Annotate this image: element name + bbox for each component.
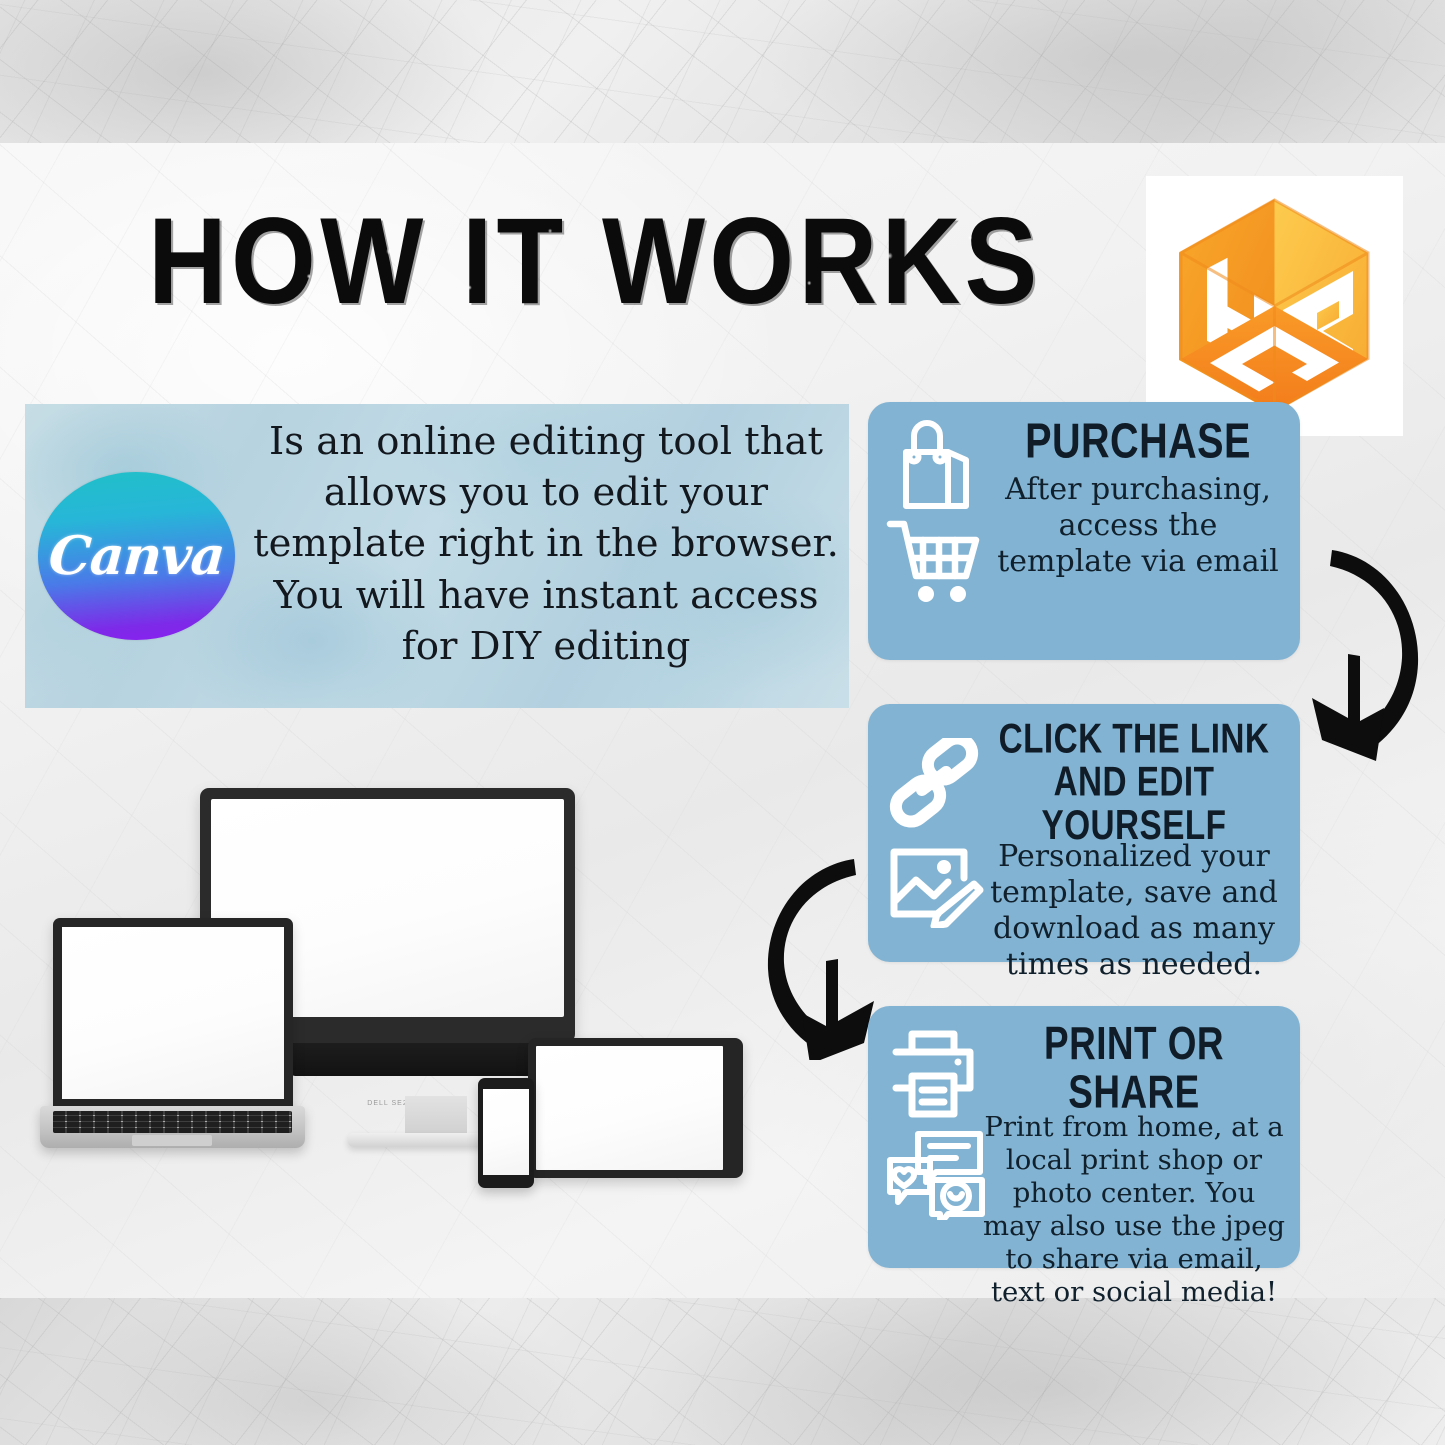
purchase-body: PURCHASE After purchasing, access the te… xyxy=(988,416,1288,580)
page-title: HOW IT WORKS xyxy=(148,206,1042,319)
tablet xyxy=(528,1038,743,1178)
step-card-print[interactable]: PRINT OR SHARE Print from home, at a loc… xyxy=(868,1006,1300,1268)
image-edit-icon xyxy=(886,840,984,928)
canva-logo: Canva xyxy=(38,472,235,640)
device-mockup-group: DELL SE2 xyxy=(30,770,770,1190)
edit-icons xyxy=(886,738,991,928)
printer-icon xyxy=(886,1028,980,1120)
purchase-description: After purchasing, access the template vi… xyxy=(988,472,1288,580)
monitor-chin xyxy=(290,1043,540,1076)
laptop-keyboard xyxy=(53,1111,292,1133)
curved-arrow-down-right-icon xyxy=(748,845,888,1060)
arrow-purchase-to-edit xyxy=(1298,532,1438,767)
print-description: Print from home, at a local print shop o… xyxy=(980,1111,1288,1309)
laptop-lid xyxy=(53,918,293,1108)
laptop-trackpad xyxy=(132,1135,212,1146)
edit-body: CLICK THE LINK AND EDIT YOURSELF Persona… xyxy=(980,718,1288,983)
step-card-purchase[interactable]: PURCHASE After purchasing, access the te… xyxy=(868,402,1300,660)
smartphone-screen xyxy=(483,1089,529,1175)
hrc-cube-logo-icon xyxy=(1167,194,1382,419)
arrow-edit-to-print xyxy=(748,845,888,1060)
canva-info-panel: Canva Is an online editing tool that all… xyxy=(25,404,849,708)
print-icons xyxy=(886,1028,991,1220)
monitor-stand-neck xyxy=(405,1096,467,1138)
infographic-canvas: HOW IT WORKS xyxy=(0,0,1445,1445)
chat-bubbles-icon xyxy=(886,1130,986,1220)
shopping-bag-icon xyxy=(886,416,978,514)
canva-wordmark: Canva xyxy=(47,525,227,587)
brand-logo-box xyxy=(1146,176,1403,436)
tablet-screen xyxy=(536,1046,723,1170)
shopping-cart-icon xyxy=(886,514,984,606)
edit-description: Personalized your template, save and dow… xyxy=(980,839,1288,983)
laptop-base xyxy=(40,1106,305,1148)
print-body: PRINT OR SHARE Print from home, at a loc… xyxy=(980,1020,1288,1309)
laptop-screen xyxy=(62,927,284,1099)
step-card-edit[interactable]: CLICK THE LINK AND EDIT YOURSELF Persona… xyxy=(868,704,1300,962)
smartphone xyxy=(478,1078,534,1188)
chain-link-icon xyxy=(886,738,981,828)
canva-description: Is an online editing tool that allows yo… xyxy=(253,416,839,672)
print-title: PRINT OR SHARE xyxy=(995,1020,1272,1115)
edit-title: CLICK THE LINK AND EDIT YOURSELF xyxy=(995,718,1272,847)
laptop xyxy=(40,918,305,1140)
purchase-icons xyxy=(886,416,991,606)
purchase-title: PURCHASE xyxy=(1003,416,1273,467)
curved-arrow-down-left-icon xyxy=(1298,532,1438,767)
